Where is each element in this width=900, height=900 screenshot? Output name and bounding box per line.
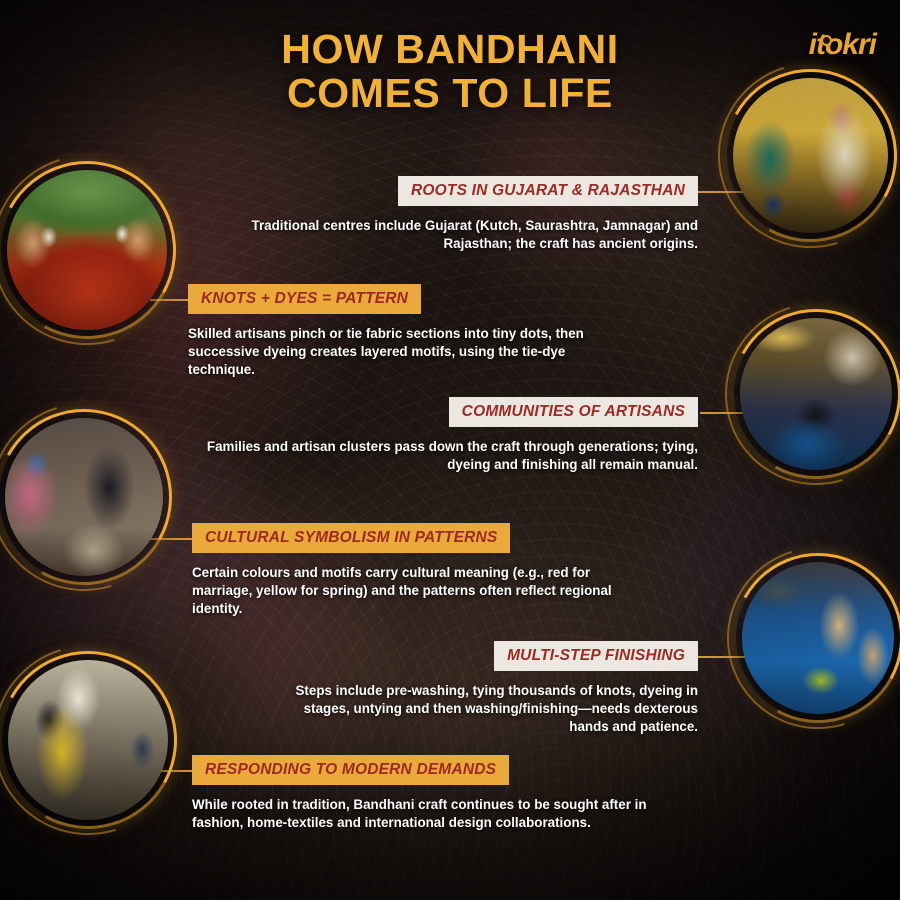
section-header-multi-step-finishing: MULTI-STEP FINISHING bbox=[494, 641, 698, 671]
section-communities: COMMUNITIES OF ARTISANS Families and art… bbox=[206, 397, 698, 474]
section-body-roots: Traditional centres include Gujarat (Kut… bbox=[236, 217, 698, 253]
photo-circle-women-finishing bbox=[5, 418, 163, 576]
section-modern-demands: RESPONDING TO MODERN DEMANDS While roote… bbox=[192, 755, 647, 832]
section-header-knots-dyes: KNOTS + DYES = PATTERN bbox=[188, 284, 421, 314]
section-header-roots: ROOTS IN GUJARAT & RAJASTHAN bbox=[398, 176, 698, 206]
brand-logo-text: itokri bbox=[809, 28, 876, 61]
section-header-communities: COMMUNITIES OF ARTISANS bbox=[449, 397, 698, 427]
section-multi-step-finishing: MULTI-STEP FINISHING Steps include pre-w… bbox=[268, 641, 698, 736]
section-knots-dyes: KNOTS + DYES = PATTERN Skilled artisans … bbox=[188, 284, 633, 379]
section-cultural-symbolism: CULTURAL SYMBOLISM IN PATTERNS Certain c… bbox=[192, 523, 644, 618]
photo-circle-dyer-blue-tub bbox=[740, 318, 892, 470]
section-body-cultural-symbolism: Certain colours and motifs carry cultura… bbox=[192, 564, 644, 617]
photo-circle-hands-tying-red-cloth bbox=[7, 170, 167, 330]
brand-logo: itokri bbox=[809, 30, 876, 60]
photo-circle-blue-dye-vat bbox=[742, 562, 894, 714]
section-body-communities: Families and artisan clusters pass down … bbox=[206, 438, 698, 474]
section-header-modern-demands: RESPONDING TO MODERN DEMANDS bbox=[192, 755, 509, 785]
photo-circle-yellow-bundle-lift bbox=[8, 660, 168, 820]
section-header-cultural-symbolism: CULTURAL SYMBOLISM IN PATTERNS bbox=[192, 523, 510, 553]
infographic-poster: HOW BANDHANI COMES TO LIFE itokri bbox=[0, 0, 900, 900]
section-body-multi-step-finishing: Steps include pre-washing, tying thousan… bbox=[268, 682, 698, 735]
section-body-modern-demands: While rooted in tradition, Bandhani craf… bbox=[192, 796, 647, 832]
photo-circle-women-tying-yellow-room bbox=[733, 78, 888, 233]
section-body-knots-dyes: Skilled artisans pinch or tie fabric sec… bbox=[188, 325, 633, 378]
section-roots: ROOTS IN GUJARAT & RAJASTHAN Traditional… bbox=[236, 176, 698, 253]
